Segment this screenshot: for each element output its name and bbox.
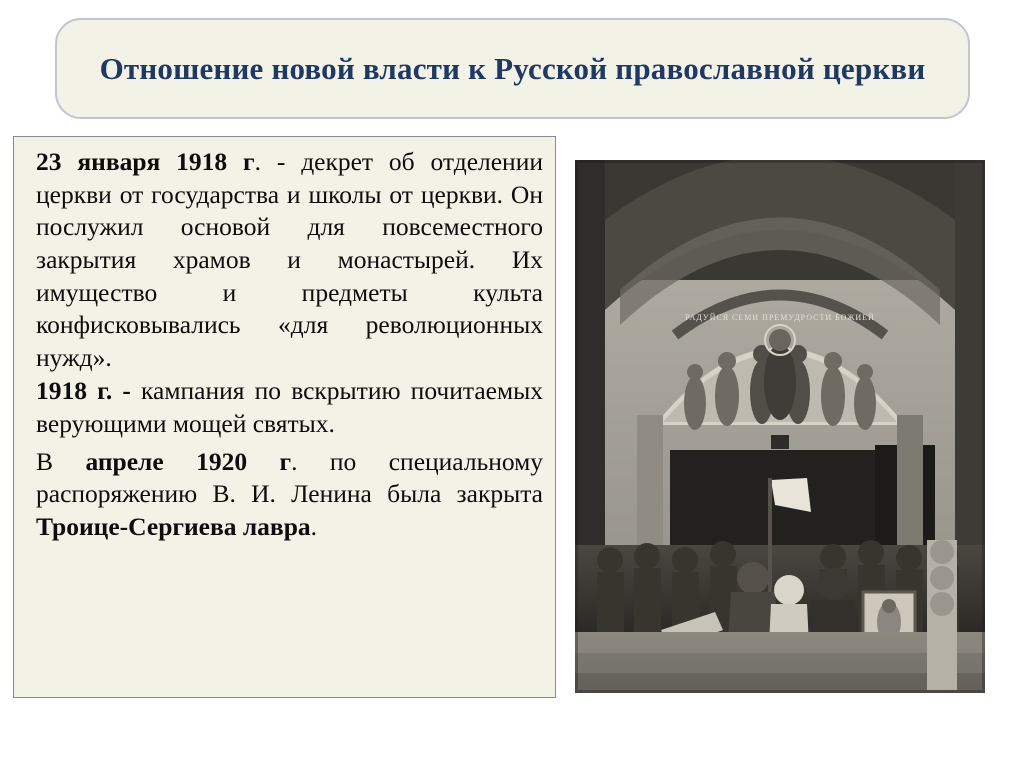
svg-text:РАДУЙСЯ СЕМИ ПРЕМУДРОСТИ БОЖИЕ: РАДУЙСЯ СЕМИ ПРЕМУДРОСТИ БОЖИЕЙ — [685, 313, 875, 322]
photo-illustration: РАДУЙСЯ СЕМИ ПРЕМУДРОСТИ БОЖИЕЙ — [575, 160, 985, 693]
paragraph-1-lead: 23 января 1918 г — [36, 147, 255, 176]
slide: Отношение новой власти к Русской правосл… — [0, 0, 1024, 767]
paragraph-1-rest: . - декрет об отделении церкви от госуда… — [36, 147, 543, 372]
paragraph-2-lead: 1918 г. - — [36, 376, 131, 405]
page-title: Отношение новой власти к Русской правосл… — [70, 49, 956, 89]
paragraph-2: 1918 г. - кампания по вскрытию почитаемы… — [36, 375, 543, 440]
paragraph-3-suffix: . — [311, 512, 317, 541]
paragraph-1: 23 января 1918 г. - декрет об отделении … — [36, 146, 543, 374]
title-banner: Отношение новой власти к Русской правосл… — [55, 18, 970, 119]
paragraph-3-prefix: В — [36, 447, 85, 476]
paragraph-3: В апреле 1920 г. по специальному распоря… — [36, 446, 543, 544]
paragraph-3-lead: апреле 1920 г — [85, 447, 291, 476]
historical-photo: РАДУЙСЯ СЕМИ ПРЕМУДРОСТИ БОЖИЕЙ — [575, 160, 985, 693]
paragraph-3-lead2: Троице-Сергиева лавра — [36, 512, 311, 541]
content-textbox: 23 января 1918 г. - декрет об отделении … — [13, 136, 556, 698]
